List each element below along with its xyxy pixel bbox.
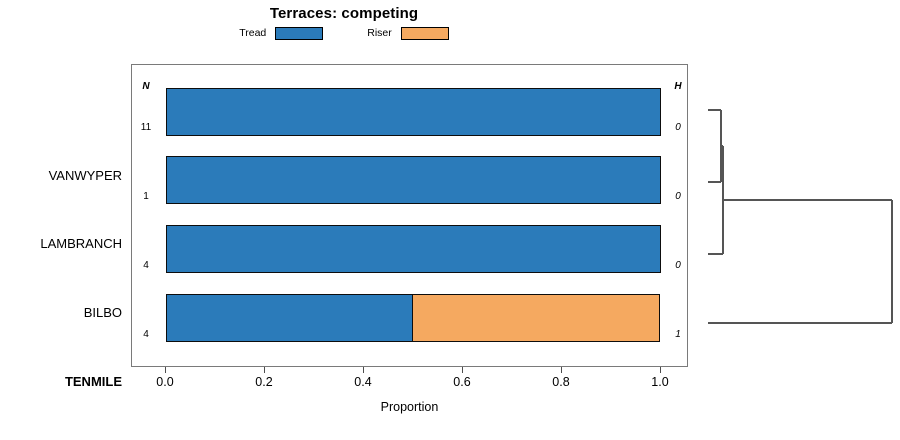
- x-tick-2: [363, 367, 364, 373]
- table-row[interactable]: [166, 156, 661, 204]
- legend-item-riser[interactable]: Riser: [367, 27, 449, 40]
- n-value-vanwyper: 11: [131, 122, 161, 133]
- bar-segment-riser[interactable]: [412, 294, 660, 342]
- legend-label-tread: Tread: [239, 28, 266, 39]
- x-axis: 0.0 0.2 0.4 0.6 0.8 1.0: [131, 367, 688, 427]
- x-tick-5: [660, 367, 661, 373]
- bar-segment-tread[interactable]: [166, 294, 414, 342]
- x-tick-4: [561, 367, 562, 373]
- x-ticklabel-5: 1.0: [637, 375, 683, 389]
- chart-legend: Tread Riser: [0, 27, 688, 40]
- h-value-tenmile: 1: [666, 329, 690, 340]
- n-value-bilbo: 4: [131, 260, 161, 271]
- legend-label-riser: Riser: [367, 28, 392, 39]
- x-tick-1: [264, 367, 265, 373]
- x-ticklabel-1: 0.2: [241, 375, 287, 389]
- x-tick-0: [165, 367, 166, 373]
- h-column: H 0 0 0 1: [660, 64, 692, 367]
- x-ticklabel-0: 0.0: [142, 375, 188, 389]
- bar-segment-tread[interactable]: [166, 225, 661, 273]
- h-column-header: H: [666, 81, 690, 92]
- n-column-header: N: [131, 81, 161, 92]
- y-axis-label-tenmile: TENMILE: [2, 374, 122, 389]
- table-row[interactable]: [166, 88, 661, 136]
- dendrogram: [692, 64, 900, 367]
- legend-item-tread[interactable]: Tread: [239, 27, 323, 40]
- x-tick-3: [462, 367, 463, 373]
- n-value-lambranch: 1: [131, 191, 161, 202]
- bar-segment-tread[interactable]: [166, 156, 661, 204]
- x-ticklabel-4: 0.8: [538, 375, 584, 389]
- dendrogram-svg: [692, 64, 900, 367]
- table-row[interactable]: [166, 225, 661, 273]
- y-axis-label-bilbo: BILBO: [2, 305, 122, 320]
- bar-segment-tread[interactable]: [166, 88, 661, 136]
- y-axis-label-vanwyper: VANWYPER: [2, 168, 122, 183]
- chart-title: Terraces: competing: [0, 5, 688, 22]
- n-value-tenmile: 4: [131, 329, 161, 340]
- plot-area: [131, 64, 688, 367]
- h-value-lambranch: 0: [666, 191, 690, 202]
- legend-swatch-riser: [401, 27, 449, 40]
- n-column: N 11 1 4 4: [131, 64, 165, 367]
- x-axis-title: Proportion: [131, 400, 688, 414]
- h-value-bilbo: 0: [666, 260, 690, 271]
- y-axis-label-lambranch: LAMBRANCH: [2, 236, 122, 251]
- y-axis-labels: VANWYPER LAMBRANCH BILBO TENMILE: [0, 64, 122, 367]
- x-ticklabel-2: 0.4: [340, 375, 386, 389]
- x-ticklabel-3: 0.6: [439, 375, 485, 389]
- legend-swatch-tread: [275, 27, 323, 40]
- h-value-vanwyper: 0: [666, 122, 690, 133]
- chart-figure: Terraces: competing Tread Riser VANWYPER…: [0, 0, 900, 440]
- table-row[interactable]: [166, 294, 661, 342]
